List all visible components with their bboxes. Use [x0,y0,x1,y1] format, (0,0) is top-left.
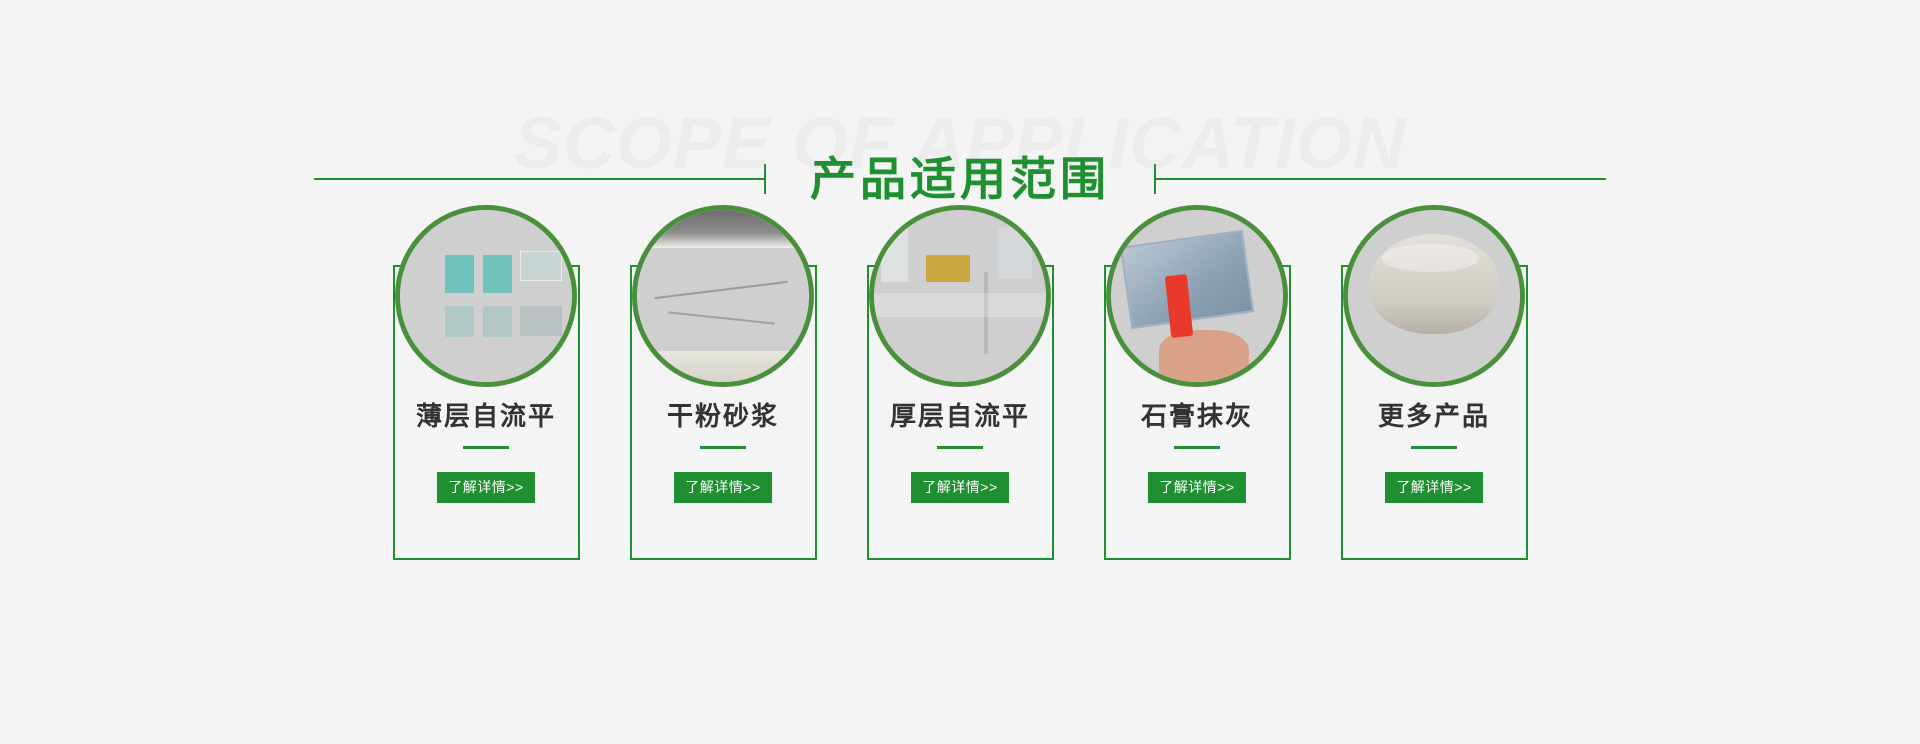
card-title: 薄层自流平 [384,401,589,432]
title-rule-left [314,178,764,180]
card-thumbnail [869,205,1051,387]
more-products-photo-icon [1348,210,1520,382]
learn-more-button[interactable]: 了解详情>> [437,472,534,503]
thick-leveling-floor-photo-icon [874,210,1046,382]
learn-more-button[interactable]: 了解详情>> [1148,472,1245,503]
card-title: 厚层自流平 [858,401,1063,432]
card-divider [1174,446,1220,449]
card-divider [1411,446,1457,449]
dry-powder-mortar-photo-icon [637,210,809,382]
scope-of-application-section: SCOPE OF APPLICATION 产品适用范围 薄层自流平 [0,0,1920,744]
card-thumbnail [395,205,577,387]
application-card[interactable]: 更多产品 了解详情>> [1332,205,1537,560]
section-header: SCOPE OF APPLICATION 产品适用范围 [0,60,1920,190]
learn-more-button[interactable]: 了解详情>> [674,472,771,503]
card-title: 石膏抹灰 [1095,401,1300,432]
application-card[interactable]: 薄层自流平 了解详情>> [384,205,589,560]
card-divider [700,446,746,449]
card-divider [937,446,983,449]
title-rule-right [1156,178,1606,180]
card-body: 干粉砂浆 了解详情>> [621,401,826,503]
card-thumbnail [1343,205,1525,387]
card-body: 薄层自流平 了解详情>> [384,401,589,503]
learn-more-button[interactable]: 了解详情>> [1385,472,1482,503]
application-card[interactable]: 厚层自流平 了解详情>> [858,205,1063,560]
card-title: 更多产品 [1332,401,1537,432]
card-thumbnail [632,205,814,387]
card-body: 厚层自流平 了解详情>> [858,401,1063,503]
page-title: 产品适用范围 [766,156,1154,202]
application-card[interactable]: 干粉砂浆 了解详情>> [621,205,826,560]
card-body: 更多产品 了解详情>> [1332,401,1537,503]
learn-more-button[interactable]: 了解详情>> [911,472,1008,503]
application-card[interactable]: 石膏抹灰 了解详情>> [1095,205,1300,560]
epoxy-floor-photo-icon [400,210,572,382]
card-divider [463,446,509,449]
application-card-list: 薄层自流平 了解详情>> 干粉砂浆 了解详情>> [0,205,1920,560]
notched-trowel-photo-icon [1111,210,1283,382]
title-row: 产品适用范围 [0,156,1920,202]
card-body: 石膏抹灰 了解详情>> [1095,401,1300,503]
card-thumbnail [1106,205,1288,387]
card-title: 干粉砂浆 [621,401,826,432]
